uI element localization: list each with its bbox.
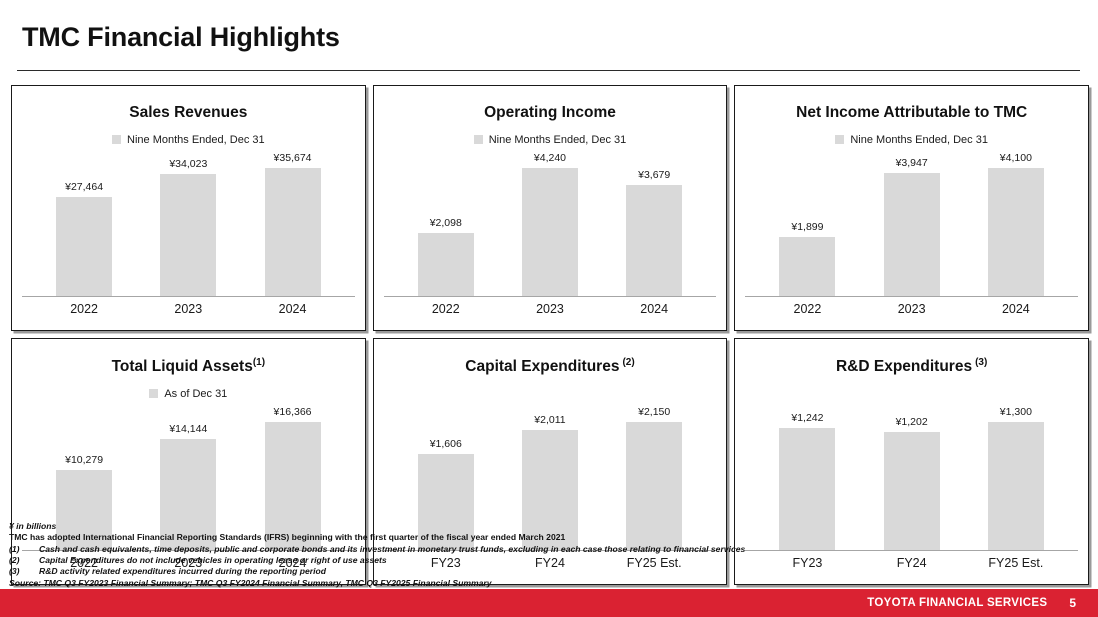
footnote-item-2: (2)Capital Expenditures do not include v… bbox=[9, 555, 1089, 566]
bar[interactable] bbox=[522, 168, 578, 296]
x-axis-labels: 202220232024 bbox=[22, 302, 355, 324]
chart-legend: Nine Months Ended, Dec 31 bbox=[745, 133, 1078, 146]
x-axis-labels: 202220232024 bbox=[384, 302, 717, 324]
bar-value-label: ¥27,464 bbox=[65, 181, 103, 193]
bar-value-label: ¥1,899 bbox=[791, 221, 823, 233]
bar-value-label: ¥2,150 bbox=[638, 406, 670, 418]
legend-label: Nine Months Ended, Dec 31 bbox=[850, 134, 988, 146]
footnote-text-3: R&D activity related expenditures incurr… bbox=[39, 566, 326, 576]
bar-group: ¥3,947 bbox=[860, 152, 963, 296]
bar-value-label: ¥2,011 bbox=[534, 414, 565, 426]
bar-group: ¥27,464 bbox=[33, 152, 136, 296]
footnote-item-3: (3)R&D activity related expenditures inc… bbox=[9, 566, 1089, 577]
chart-title-footnote-marker: (1) bbox=[253, 357, 265, 368]
legend-label: Nine Months Ended, Dec 31 bbox=[127, 134, 265, 146]
chart-title-text: Net Income Attributable to TMC bbox=[796, 104, 1027, 121]
slide: TMC Financial Highlights Sales RevenuesN… bbox=[0, 0, 1098, 617]
x-axis-tick-label: 2023 bbox=[860, 302, 963, 324]
footnote-source: Source: TMC Q3 FY2023 Financial Summary;… bbox=[9, 578, 1089, 589]
x-axis-tick-label: 2022 bbox=[33, 302, 136, 324]
bar[interactable] bbox=[160, 174, 216, 296]
chart-title: Capital Expenditures(2) bbox=[384, 357, 717, 375]
chart-panel-net-income-attributable-to-tmc: Net Income Attributable to TMCNine Month… bbox=[734, 85, 1089, 331]
bar-value-label: ¥2,098 bbox=[430, 217, 462, 229]
plot-area: ¥2,098¥4,240¥3,679 bbox=[384, 152, 717, 297]
x-axis-tick-label: 2022 bbox=[394, 302, 497, 324]
x-axis-tick-label: 2022 bbox=[756, 302, 859, 324]
legend-swatch-icon bbox=[835, 135, 844, 144]
chart-title-text: Total Liquid Assets bbox=[112, 358, 253, 375]
x-axis-tick-label: 2024 bbox=[603, 302, 706, 324]
bar-group: ¥35,674 bbox=[241, 152, 344, 296]
bar-value-label: ¥10,279 bbox=[65, 454, 103, 466]
bar[interactable] bbox=[56, 197, 112, 296]
bar-group: ¥34,023 bbox=[137, 152, 240, 296]
x-axis-tick-label: 2023 bbox=[498, 302, 601, 324]
bar-chart: ¥1,899¥3,947¥4,100202220232024 bbox=[745, 152, 1078, 324]
bar-group: ¥4,100 bbox=[964, 152, 1067, 296]
footnote-unit: ¥ in billions bbox=[9, 521, 1089, 532]
bar-chart: ¥2,098¥4,240¥3,679202220232024 bbox=[384, 152, 717, 324]
footnote-number-3: (3) bbox=[9, 566, 39, 577]
chart-title: Net Income Attributable to TMC bbox=[745, 104, 1078, 121]
bar-value-label: ¥35,674 bbox=[274, 152, 312, 164]
bar-value-label: ¥14,144 bbox=[169, 423, 207, 435]
chart-title: Sales Revenues bbox=[22, 104, 355, 121]
plot-area: ¥1,899¥3,947¥4,100 bbox=[745, 152, 1078, 297]
x-axis-tick-label: 2024 bbox=[964, 302, 1067, 324]
bar-value-label: ¥1,242 bbox=[791, 412, 823, 424]
bar-group: ¥2,098 bbox=[394, 152, 497, 296]
bar-value-label: ¥1,202 bbox=[896, 416, 928, 428]
bar-value-label: ¥4,100 bbox=[1000, 152, 1032, 164]
title-divider bbox=[17, 70, 1080, 71]
footnote-text-2: Capital Expenditures do not include vehi… bbox=[39, 555, 387, 565]
footnote-number-1: (1) bbox=[9, 544, 39, 555]
legend-swatch-icon bbox=[112, 135, 121, 144]
legend-swatch-icon bbox=[474, 135, 483, 144]
chart-legend: Nine Months Ended, Dec 31 bbox=[384, 133, 717, 146]
chart-legend: Nine Months Ended, Dec 31 bbox=[22, 133, 355, 146]
plot-area: ¥27,464¥34,023¥35,674 bbox=[22, 152, 355, 297]
bar-group: ¥3,679 bbox=[603, 152, 706, 296]
chart-title: R&D Expenditures(3) bbox=[745, 357, 1078, 375]
chart-legend: As of Dec 31 bbox=[22, 387, 355, 400]
footnotes: ¥ in billions TMC has adopted Internatio… bbox=[9, 521, 1089, 589]
footer-bar: TOYOTA FINANCIAL SERVICES 5 bbox=[0, 589, 1098, 617]
chart-title-text: Sales Revenues bbox=[129, 104, 247, 121]
bar[interactable] bbox=[418, 233, 474, 296]
footnote-item-1: (1)Cash and cash equivalents, time depos… bbox=[9, 544, 1089, 555]
bar-value-label: ¥1,606 bbox=[430, 438, 462, 450]
chart-title-footnote-marker: (3) bbox=[975, 357, 987, 368]
chart-title-footnote-marker: (2) bbox=[622, 357, 634, 368]
x-axis-labels: 202220232024 bbox=[745, 302, 1078, 324]
bar-value-label: ¥3,947 bbox=[896, 157, 928, 169]
page-title: TMC Financial Highlights bbox=[22, 22, 340, 53]
footnote-standard: TMC has adopted International Financial … bbox=[9, 532, 1089, 543]
legend-swatch-icon bbox=[149, 389, 158, 398]
footer-brand: TOYOTA FINANCIAL SERVICES bbox=[867, 597, 1047, 609]
chart-title-text: Capital Expenditures bbox=[465, 358, 619, 375]
x-axis-tick-label: 2024 bbox=[241, 302, 344, 324]
chart-title: Operating Income bbox=[384, 104, 717, 121]
bar-value-label: ¥3,679 bbox=[638, 169, 670, 181]
bar-group: ¥4,240 bbox=[498, 152, 601, 296]
chart-panel-operating-income: Operating IncomeNine Months Ended, Dec 3… bbox=[373, 85, 728, 331]
legend-label: As of Dec 31 bbox=[164, 388, 227, 400]
bar-group: ¥1,899 bbox=[756, 152, 859, 296]
bar[interactable] bbox=[779, 237, 835, 296]
bar-value-label: ¥1,300 bbox=[1000, 406, 1032, 418]
bar[interactable] bbox=[626, 185, 682, 296]
chart-panel-sales-revenues: Sales RevenuesNine Months Ended, Dec 31¥… bbox=[11, 85, 366, 331]
bar[interactable] bbox=[884, 173, 940, 296]
legend-label: Nine Months Ended, Dec 31 bbox=[489, 134, 627, 146]
chart-title-text: R&D Expenditures bbox=[836, 358, 972, 375]
bar-value-label: ¥34,023 bbox=[169, 158, 207, 170]
chart-title-text: Operating Income bbox=[484, 104, 616, 121]
x-axis-tick-label: 2023 bbox=[137, 302, 240, 324]
bar[interactable] bbox=[988, 168, 1044, 296]
chart-title: Total Liquid Assets(1) bbox=[22, 357, 355, 375]
footnote-number-2: (2) bbox=[9, 555, 39, 566]
bar[interactable] bbox=[265, 168, 321, 296]
bar-value-label: ¥16,366 bbox=[274, 406, 312, 418]
bar-chart: ¥27,464¥34,023¥35,674202220232024 bbox=[22, 152, 355, 324]
footer-page-number: 5 bbox=[1069, 596, 1076, 610]
footnote-text-1: Cash and cash equivalents, time deposits… bbox=[39, 544, 745, 554]
bar-value-label: ¥4,240 bbox=[534, 152, 566, 164]
chart-panel-grid: Sales RevenuesNine Months Ended, Dec 31¥… bbox=[11, 85, 1089, 517]
